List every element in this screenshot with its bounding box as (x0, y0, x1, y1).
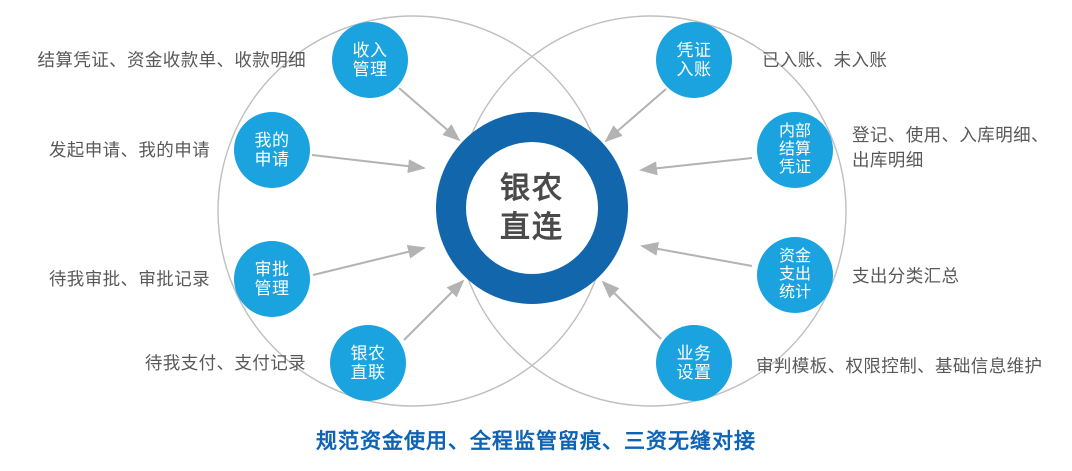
center-node-label: 银农 直连 (466, 142, 598, 274)
center-node: 银农 直连 (436, 112, 628, 304)
node-internal-settlement-voucher-line-2: 结算 (779, 141, 811, 159)
desc-fund-expenditure-statistics: 支出分类汇总 (852, 264, 959, 289)
desc-approval-management-line-1: 待我审批、审批记录 (49, 267, 210, 292)
arrow-income-management (399, 88, 459, 140)
desc-income-management-line-1: 结算凭证、资金收款单、收款明细 (38, 48, 307, 73)
node-income-management[interactable]: 收入 管理 (332, 22, 408, 98)
desc-bank-farmer-direct-line-1: 待我支付、支付记录 (145, 351, 306, 376)
node-fund-expenditure-statistics-line-3: 统计 (779, 284, 811, 302)
arrow-internal-settlement-voucher (641, 158, 752, 170)
node-income-management-line-2: 管理 (353, 60, 388, 79)
node-internal-settlement-voucher-line-1: 内部 (779, 123, 811, 141)
diagram-caption: 规范资金使用、全程监管留痕、三资无缝对接 (0, 425, 1072, 455)
arrow-business-settings (603, 282, 661, 339)
arrow-fund-expenditure-statistics (642, 246, 752, 266)
arrow-my-application (312, 155, 424, 168)
node-business-settings-line-1: 业务 (677, 344, 712, 363)
center-line-2: 直连 (500, 208, 564, 247)
node-bank-farmer-direct-line-2: 直联 (351, 363, 386, 382)
desc-voucher-entry-line-1: 已入账、未入账 (762, 48, 887, 73)
node-my-application-line-1: 我的 (255, 131, 290, 150)
desc-internal-settlement-voucher: 登记、使用、入库明细、 出库明细 (852, 123, 1049, 174)
arrow-voucher-entry (606, 89, 666, 141)
diagram-canvas: 银农 直连 收入 管理 我的 申请 审批 管理 银农 直联 凭证 入账 内部 结… (0, 0, 1072, 471)
node-my-application[interactable]: 我的 申请 (234, 112, 310, 188)
center-line-1: 银农 (500, 169, 564, 208)
desc-my-application-line-1: 发起申请、我的申请 (49, 138, 210, 163)
desc-my-application: 发起申请、我的申请 (49, 138, 210, 163)
desc-internal-settlement-voucher-line-2: 出库明细 (852, 148, 1049, 173)
node-business-settings[interactable]: 业务 设置 (656, 325, 732, 401)
desc-internal-settlement-voucher-line-1: 登记、使用、入库明细、 (852, 123, 1049, 148)
desc-voucher-entry: 已入账、未入账 (762, 48, 887, 73)
desc-fund-expenditure-statistics-line-1: 支出分类汇总 (852, 264, 959, 289)
node-my-application-line-2: 申请 (255, 150, 290, 169)
node-internal-settlement-voucher[interactable]: 内部 结算 凭证 (757, 112, 833, 188)
node-fund-expenditure-statistics-line-2: 支出 (779, 266, 811, 284)
node-approval-management-line-2: 管理 (255, 279, 290, 298)
node-approval-management-line-1: 审批 (255, 260, 290, 279)
desc-income-management: 结算凭证、资金收款单、收款明细 (38, 48, 307, 73)
desc-business-settings-line-1: 审判模板、权限控制、基础信息维护 (756, 354, 1042, 379)
arrow-bank-farmer-direct (404, 281, 463, 340)
node-voucher-entry[interactable]: 凭证 入账 (656, 22, 732, 98)
arrow-approval-management (313, 248, 424, 275)
desc-business-settings: 审判模板、权限控制、基础信息维护 (756, 354, 1042, 379)
desc-bank-farmer-direct: 待我支付、支付记录 (145, 351, 306, 376)
node-approval-management[interactable]: 审批 管理 (234, 241, 310, 317)
node-fund-expenditure-statistics-line-1: 资金 (779, 248, 811, 266)
node-voucher-entry-line-2: 入账 (677, 60, 712, 79)
node-bank-farmer-direct[interactable]: 银农 直联 (330, 325, 406, 401)
node-voucher-entry-line-1: 凭证 (677, 41, 712, 60)
node-fund-expenditure-statistics[interactable]: 资金 支出 统计 (757, 237, 833, 313)
node-income-management-line-1: 收入 (353, 41, 388, 60)
node-bank-farmer-direct-line-1: 银农 (351, 344, 386, 363)
node-business-settings-line-2: 设置 (677, 363, 712, 382)
node-internal-settlement-voucher-line-3: 凭证 (779, 159, 811, 177)
desc-approval-management: 待我审批、审批记录 (49, 267, 210, 292)
